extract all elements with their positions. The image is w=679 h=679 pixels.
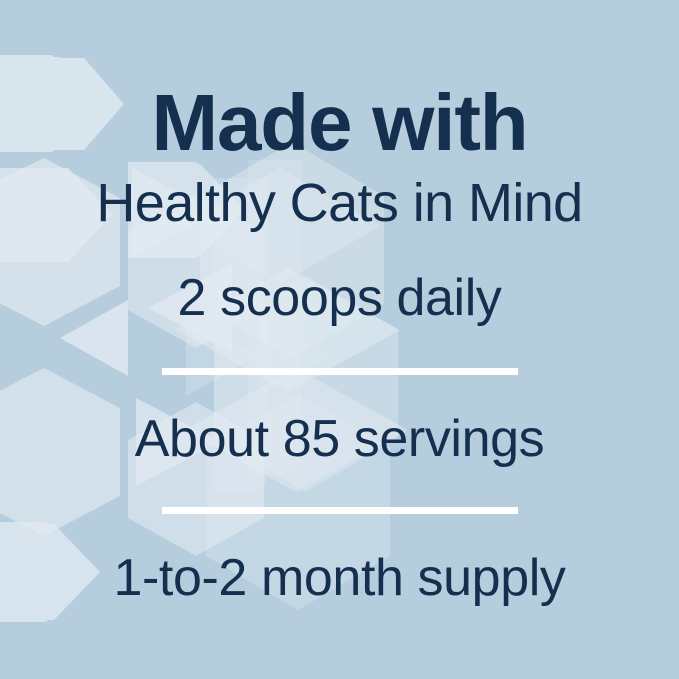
fact-scoops-daily: 2 scoops daily	[178, 230, 502, 324]
divider-above-servings	[162, 368, 518, 375]
subheadline: Healthy Cats in Mind	[96, 162, 582, 230]
fact-servings-count: About 85 servings	[135, 375, 544, 465]
claim-content: Made with Healthy Cats in Mind 2 scoops …	[0, 0, 679, 679]
fact-supply-duration: 1-to-2 month supply	[114, 514, 566, 604]
product-claim-panel: Made with Healthy Cats in Mind 2 scoops …	[0, 0, 679, 679]
divider-above-supply	[162, 507, 518, 514]
headline: Made with	[152, 0, 528, 162]
